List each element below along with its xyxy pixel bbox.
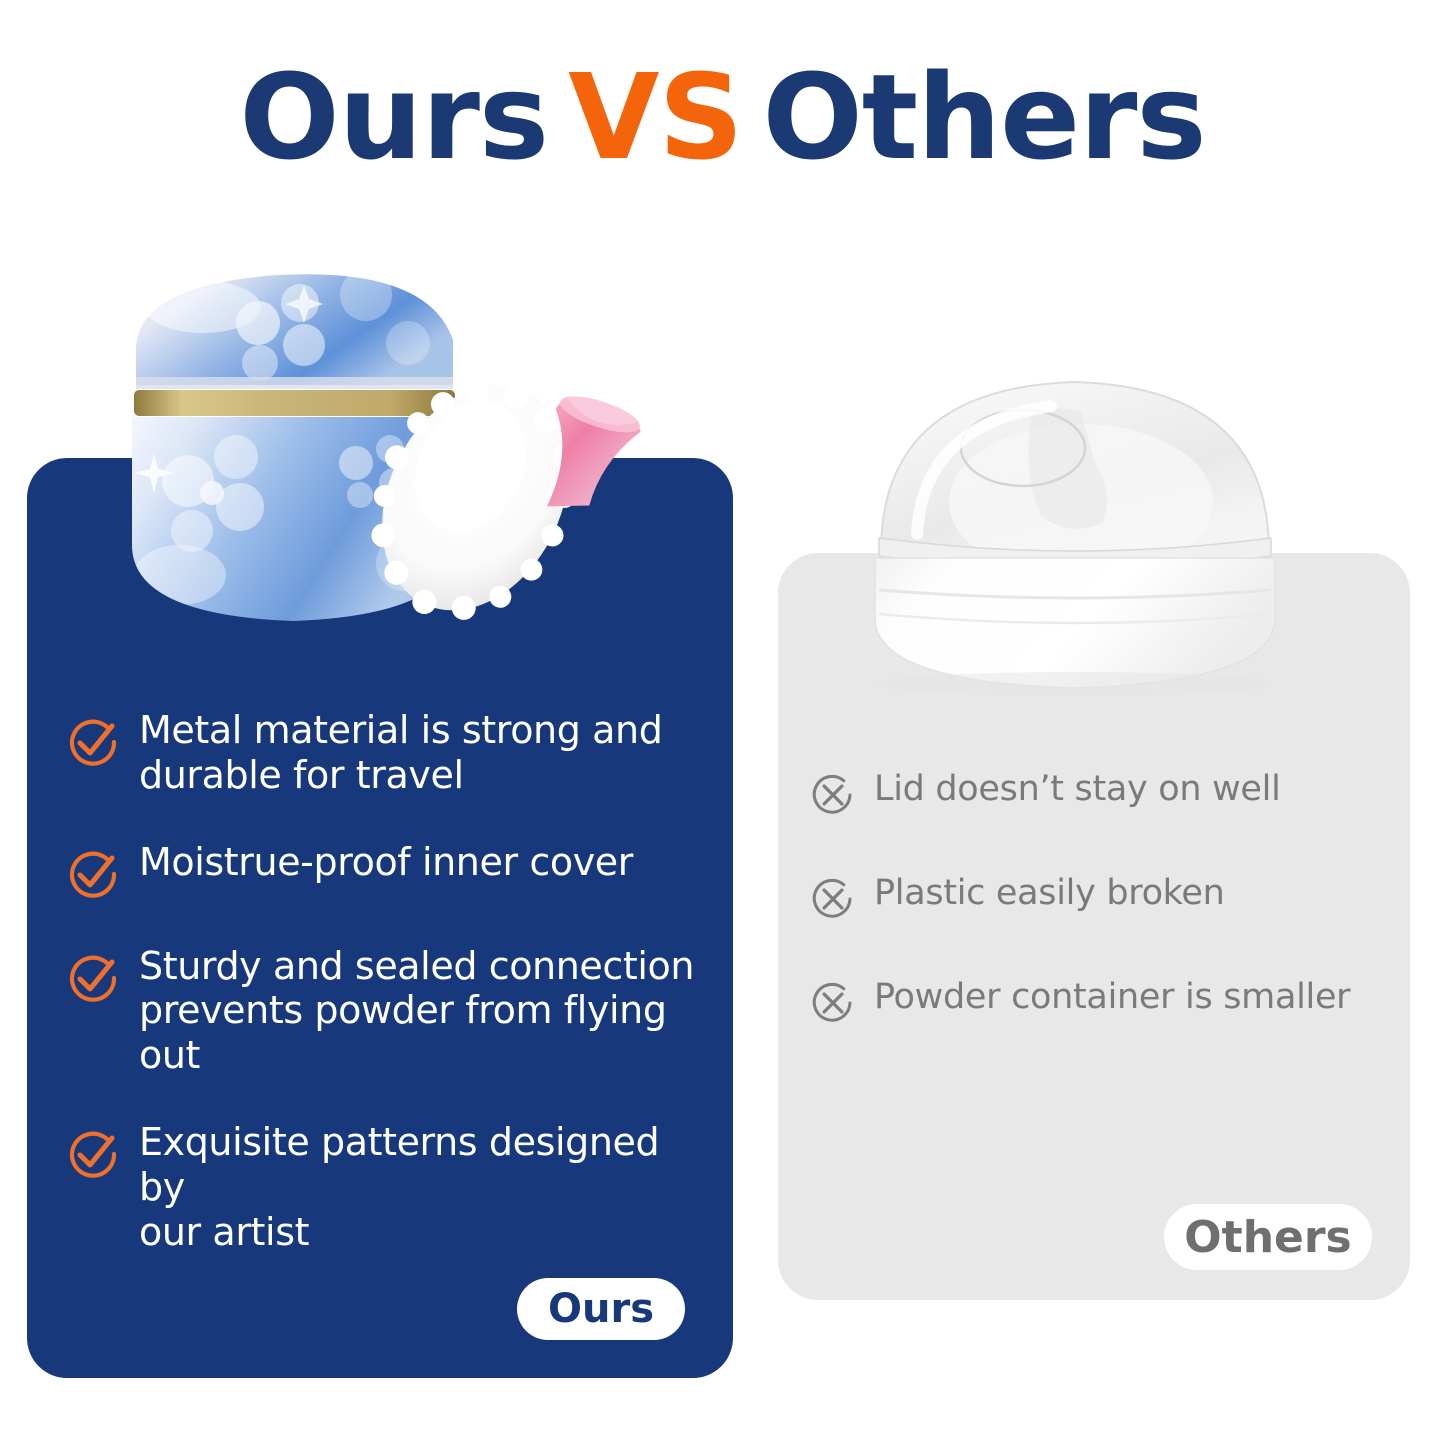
badge-label: Others [1184, 1212, 1352, 1263]
x-circle-icon [808, 978, 858, 1028]
status-badge-ours: Ours [517, 1278, 685, 1340]
others-feature-list: Lid doesn’t stay on well Plastic easily … [778, 768, 1410, 1080]
page-title: OursVSOthers [0, 58, 1445, 176]
list-item: Exquisite patterns designed by our artis… [65, 1120, 711, 1254]
list-item: Plastic easily broken [808, 872, 1392, 924]
check-circle-icon [65, 714, 121, 770]
list-item-label: Powder container is smaller [874, 976, 1350, 1018]
x-circle-icon [808, 770, 858, 820]
check-circle-icon [65, 950, 121, 1006]
check-circle-icon [65, 846, 121, 902]
others-product-image [845, 352, 1305, 712]
title-word-vs: VS [568, 48, 742, 186]
list-item-label: Lid doesn’t stay on well [874, 768, 1281, 810]
list-item: Lid doesn’t stay on well [808, 768, 1392, 820]
check-circle-icon [65, 1126, 121, 1182]
list-item: Sturdy and sealed connection prevents po… [65, 944, 711, 1078]
title-word-others: Others [762, 48, 1205, 186]
ours-feature-list: Metal material is strong and durable for… [27, 708, 733, 1297]
list-item-label: Plastic easily broken [874, 872, 1225, 914]
list-item-label: Metal material is strong and durable for… [139, 708, 662, 798]
list-item: Moistrue-proof inner cover [65, 840, 711, 902]
list-item: Powder container is smaller [808, 976, 1392, 1028]
x-circle-icon [808, 874, 858, 924]
title-word-ours: Ours [239, 48, 548, 186]
list-item-label: Exquisite patterns designed by our artis… [139, 1120, 711, 1254]
badge-label: Ours [548, 1286, 654, 1332]
ours-product-image [108, 245, 728, 665]
list-item-label: Sturdy and sealed connection prevents po… [139, 944, 711, 1078]
list-item: Metal material is strong and durable for… [65, 708, 711, 798]
list-item-label: Moistrue-proof inner cover [139, 840, 633, 885]
status-badge-others: Others [1164, 1204, 1372, 1270]
